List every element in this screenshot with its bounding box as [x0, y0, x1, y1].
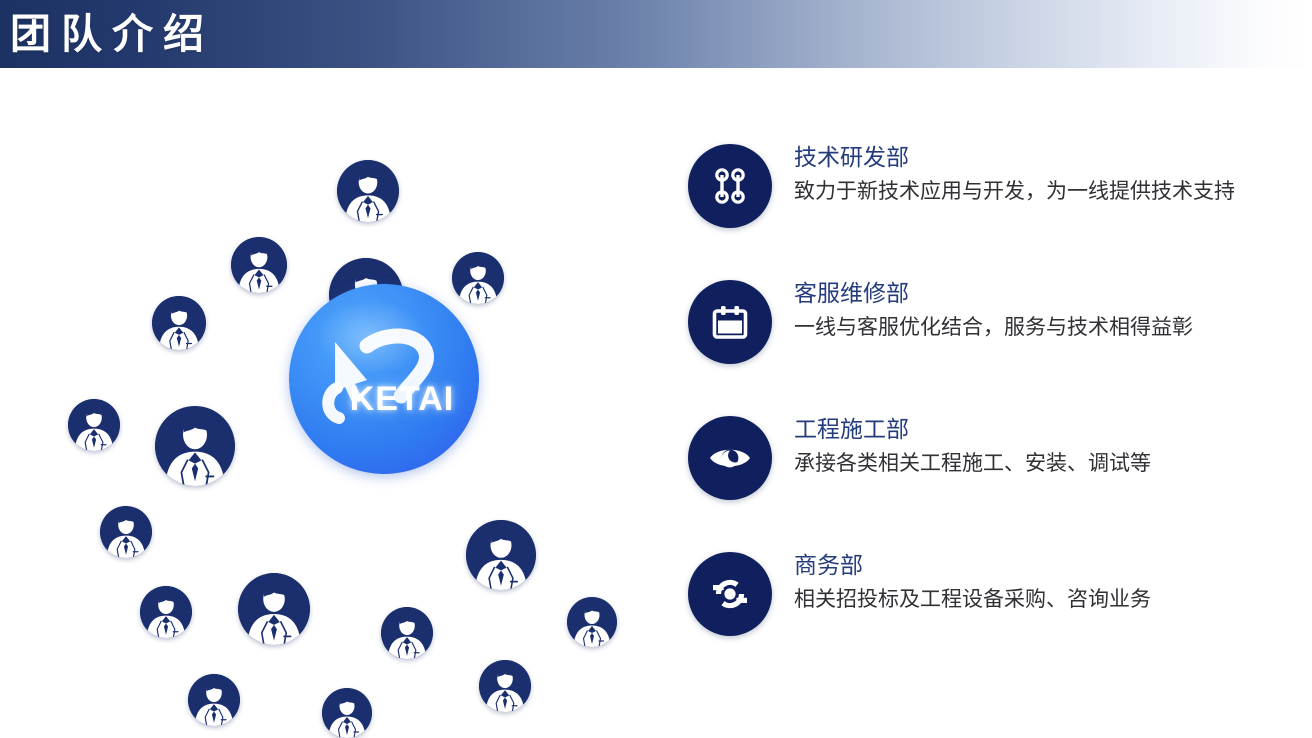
- department-description: 相关招投标及工程设备采购、咨询业务: [794, 582, 1310, 618]
- department-description: 一线与客服优化结合，服务与技术相得益彰: [794, 310, 1310, 346]
- team-member-avatar: [140, 586, 192, 638]
- node-link-icon: [688, 144, 772, 228]
- department-description: 承接各类相关工程施工、安装、调试等: [794, 446, 1310, 482]
- ketai-brand-mark-icon: [289, 284, 479, 474]
- team-member-avatar: [155, 406, 235, 486]
- calendar-icon: [688, 280, 772, 364]
- sync-icon: [688, 552, 772, 636]
- department-item-business[interactable]: 商务部相关招投标及工程设备采购、咨询业务: [688, 538, 1312, 658]
- department-title: 商务部: [794, 548, 1310, 582]
- department-title: 客服维修部: [794, 276, 1310, 310]
- department-description: 致力于新技术应用与开发，为一线提供技术支持: [794, 174, 1310, 210]
- department-text: 工程施工部承接各类相关工程施工、安装、调试等: [794, 412, 1310, 482]
- department-item-tech-rd[interactable]: 技术研发部致力于新技术应用与开发，为一线提供技术支持: [688, 130, 1312, 266]
- team-member-avatar: [381, 607, 433, 659]
- team-member-avatar: [238, 573, 310, 645]
- team-member-avatar: [567, 597, 617, 647]
- eye-icon: [688, 416, 772, 500]
- team-member-avatar: [152, 296, 206, 350]
- team-member-avatar: [68, 399, 120, 451]
- department-text: 技术研发部致力于新技术应用与开发，为一线提供技术支持: [794, 140, 1310, 210]
- team-member-avatar: [322, 688, 372, 738]
- department-list: 技术研发部致力于新技术应用与开发，为一线提供技术支持客服维修部一线与客服优化结合…: [688, 130, 1312, 658]
- team-member-avatar: [337, 160, 399, 222]
- team-member-avatar: [466, 520, 536, 590]
- ketai-logo-bubble: KETAI: [289, 284, 479, 474]
- team-network-graphic: KETAI: [0, 68, 680, 708]
- team-member-avatar: [100, 506, 152, 558]
- team-member-avatar: [188, 674, 240, 726]
- page-title: 团队介绍: [10, 4, 214, 64]
- department-text: 客服维修部一线与客服优化结合，服务与技术相得益彰: [794, 276, 1310, 346]
- team-member-avatar: [479, 660, 531, 712]
- department-text: 商务部相关招投标及工程设备采购、咨询业务: [794, 548, 1310, 618]
- department-title: 工程施工部: [794, 412, 1310, 446]
- logo-wordmark: KETAI: [289, 380, 479, 419]
- department-title: 技术研发部: [794, 140, 1310, 174]
- team-member-avatar: [231, 237, 287, 293]
- header-bar: 团队介绍: [0, 0, 1312, 68]
- department-item-engineering[interactable]: 工程施工部承接各类相关工程施工、安装、调试等: [688, 402, 1312, 538]
- department-item-service-repair[interactable]: 客服维修部一线与客服优化结合，服务与技术相得益彰: [688, 266, 1312, 402]
